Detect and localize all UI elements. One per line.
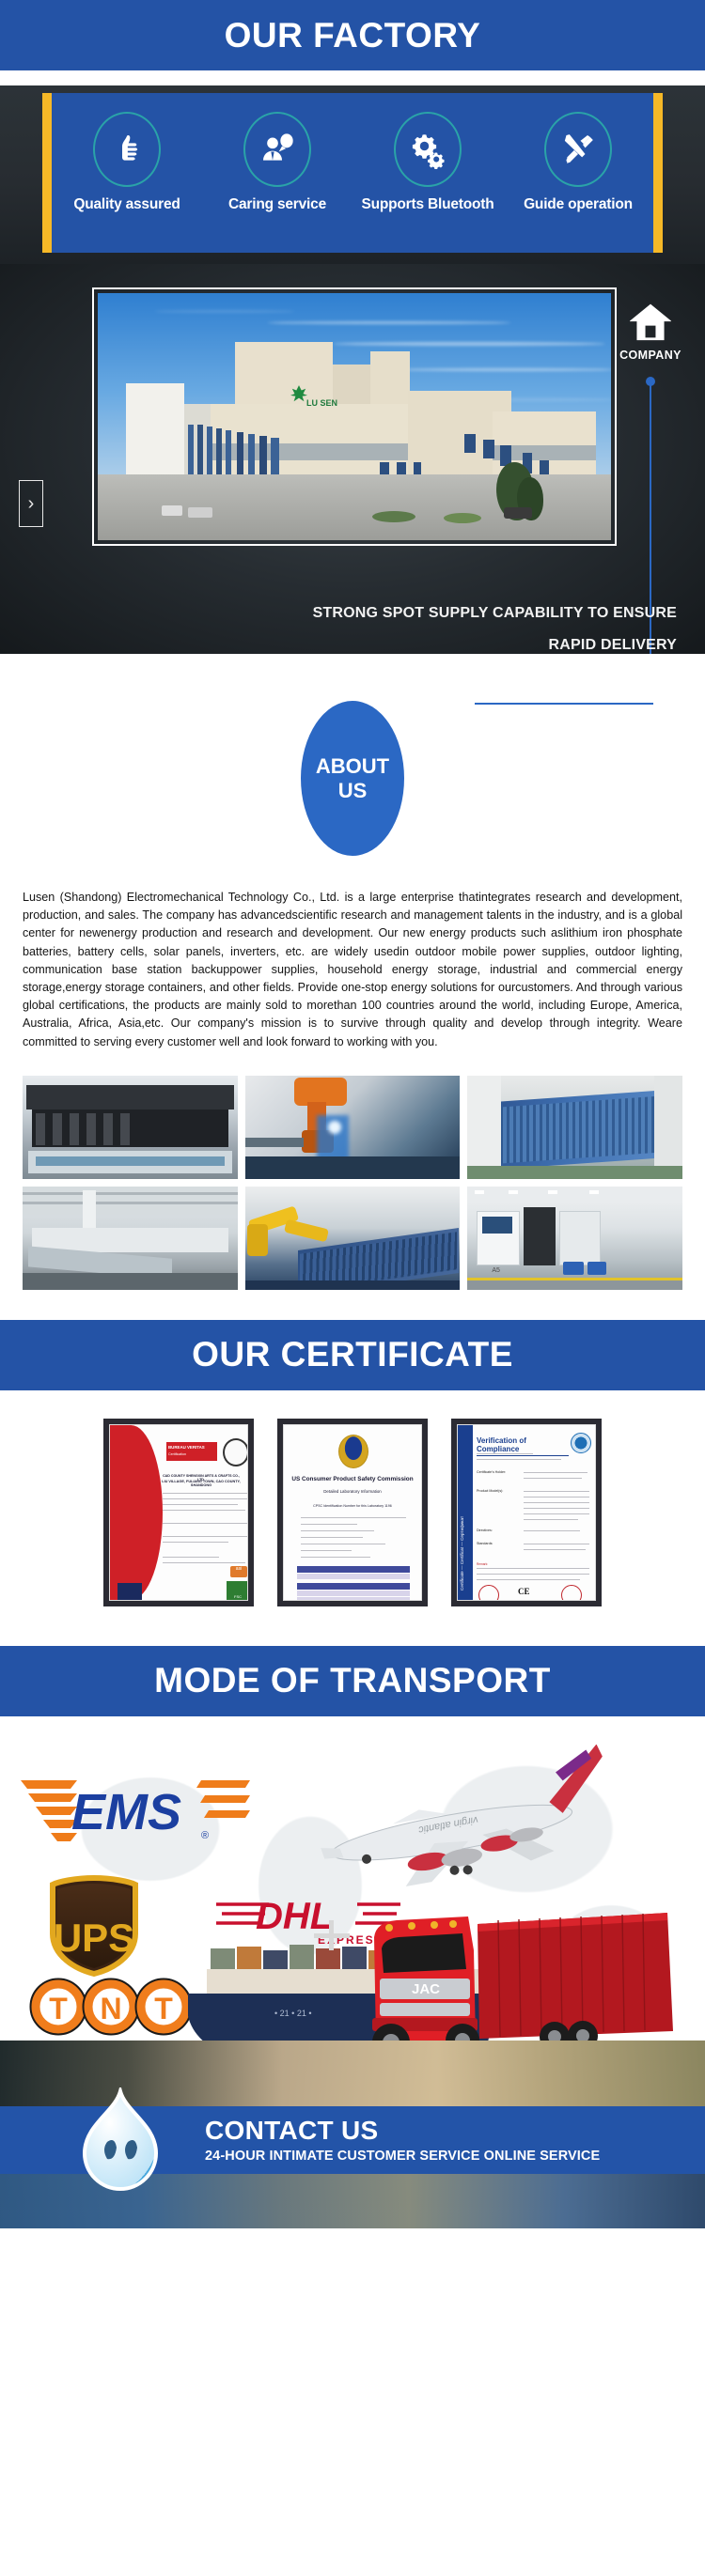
gallery-item-factory-production-hall[interactable]: [23, 1187, 238, 1290]
feature-label: Supports Bluetooth: [361, 196, 493, 213]
gears-icon: [394, 112, 462, 187]
building-logo-text: LU SEN: [306, 398, 337, 408]
ups-logo: UPS: [45, 1874, 143, 1978]
feature-caring-service[interactable]: Caring service: [207, 112, 348, 213]
spacer-above-certificate-banner: [0, 1290, 705, 1320]
factory-photo-grid: A5: [23, 1076, 682, 1290]
hero-caption-line1: STRONG SPOT SUPPLY CAPABILITY TO ENSURE: [188, 597, 677, 629]
banner-title-transport: MODE OF TRANSPORT: [154, 1661, 551, 1700]
contact-us-section: CONTACT US 24-HOUR INTIMATE CUSTOMER SER…: [0, 2041, 705, 2228]
feature-label: Guide operation: [524, 196, 633, 213]
spacer-above-transport-banner: [0, 1638, 705, 1646]
container-truck: JAC: [357, 1900, 705, 2041]
certificate-bureau-veritas[interactable]: BUREAU VERITAS Certification CAD COUNTY …: [103, 1419, 254, 1606]
decor-red-swoosh: [110, 1425, 163, 1600]
chat-drop-icon[interactable]: [73, 2087, 167, 2196]
factory-photo-frame: LU SEN: [92, 287, 617, 546]
transport-showcase: EMS ® UPS T N: [0, 1716, 705, 2041]
company-tab-label: COMPANY: [613, 349, 688, 362]
timeline-elbow: [475, 703, 653, 705]
section-banner-transport: MODE OF TRANSPORT: [0, 1646, 705, 1716]
thumbs-up-icon: [93, 112, 161, 187]
svg-text:T: T: [49, 1992, 68, 2025]
contact-title: CONTACT US: [205, 2116, 600, 2146]
customer-support-icon: [243, 112, 311, 187]
feature-guide-operation[interactable]: Guide operation: [508, 112, 649, 213]
certificate-image: BUREAU VERITAS Certification CAD COUNTY …: [109, 1424, 248, 1601]
certificate-verification-of-compliance[interactable]: Certificate — Certificat — Сертификат Ve…: [451, 1419, 602, 1606]
gallery-item-solar-panel-conveyor[interactable]: [467, 1076, 682, 1179]
cargo-airplane: virgin atlantic: [282, 1745, 639, 1914]
factory-building-photo: LU SEN: [98, 293, 611, 540]
hero-caption: STRONG SPOT SUPPLY CAPABILITY TO ENSURE …: [188, 597, 677, 661]
banner-title-factory: OUR FACTORY: [225, 16, 481, 55]
company-tab[interactable]: COMPANY: [613, 303, 688, 362]
cert-note: CPSC Identification Number for this Labo…: [284, 1504, 421, 1508]
gallery-item-smt-assembly-line[interactable]: A5: [467, 1187, 682, 1290]
svg-text:JAC: JAC: [412, 1981, 440, 1997]
section-banner-certificate: OUR CERTIFICATE: [0, 1320, 705, 1390]
svg-text:®: ®: [201, 1830, 209, 1841]
about-badge-line2: US: [338, 779, 368, 803]
contact-text-block: CONTACT US 24-HOUR INTIMATE CUSTOMER SER…: [205, 2116, 600, 2164]
feature-quality-assured[interactable]: Quality assured: [56, 112, 197, 213]
feature-supports-bluetooth[interactable]: Supports Bluetooth: [357, 112, 498, 213]
certificate-image: Certificate — Certificat — Сертификат Ve…: [457, 1424, 596, 1601]
svg-text:EMS: EMS: [71, 1784, 181, 1840]
carousel-next-button[interactable]: ›: [19, 480, 43, 527]
about-badge-line1: ABOUT: [316, 754, 389, 779]
cert-subtitle: Detailed Laboratory Information: [284, 1489, 421, 1494]
cert-side-text: Certificate — Certificat — Сертификат: [460, 1450, 471, 1591]
gallery-item-robot-arm-panel-handling[interactable]: [245, 1187, 461, 1290]
banner-title-certificate: OUR CERTIFICATE: [192, 1335, 513, 1374]
svg-text:UPS: UPS: [54, 1916, 134, 1960]
ce-mark: CE: [518, 1587, 530, 1596]
feature-label: Caring service: [228, 196, 326, 213]
features-strip: Quality assured Caring service: [0, 85, 705, 264]
hero-factory-slide: ›: [0, 264, 705, 654]
svg-text:• 21 • 21 •: • 21 • 21 •: [274, 2009, 311, 2018]
certificates-row: BUREAU VERITAS Certification CAD COUNTY …: [0, 1390, 705, 1638]
cert-title: US Consumer Product Safety Commission: [284, 1476, 421, 1482]
about-us-section: ABOUT US Lusen (Shandong) Electromechani…: [0, 654, 705, 1290]
features-panel: Quality assured Caring service: [42, 93, 663, 253]
certificate-cpsc[interactable]: US Consumer Product Safety Commission De…: [277, 1419, 428, 1606]
about-us-paragraph: Lusen (Shandong) Electromechanical Techn…: [23, 889, 682, 1051]
feature-label: Quality assured: [73, 196, 180, 213]
home-icon: [630, 303, 671, 341]
spacer-below-factory-banner: [0, 70, 705, 85]
svg-text:N: N: [100, 1992, 121, 2025]
section-banner-factory: OUR FACTORY: [0, 0, 705, 70]
certificate-image: US Consumer Product Safety Commission De…: [283, 1424, 422, 1601]
about-us-badge: ABOUT US: [301, 701, 404, 856]
svg-text:T: T: [154, 1992, 173, 2025]
gallery-item-solar-module-layup-line[interactable]: [23, 1076, 238, 1179]
tnt-logo: T N T: [28, 1978, 194, 2036]
ems-logo: EMS ®: [17, 1771, 261, 1861]
gallery-item-robotic-welding-cell[interactable]: [245, 1076, 461, 1179]
contact-subtitle: 24-HOUR INTIMATE CUSTOMER SERVICE ONLINE…: [205, 2149, 600, 2164]
tools-icon: [544, 112, 612, 187]
